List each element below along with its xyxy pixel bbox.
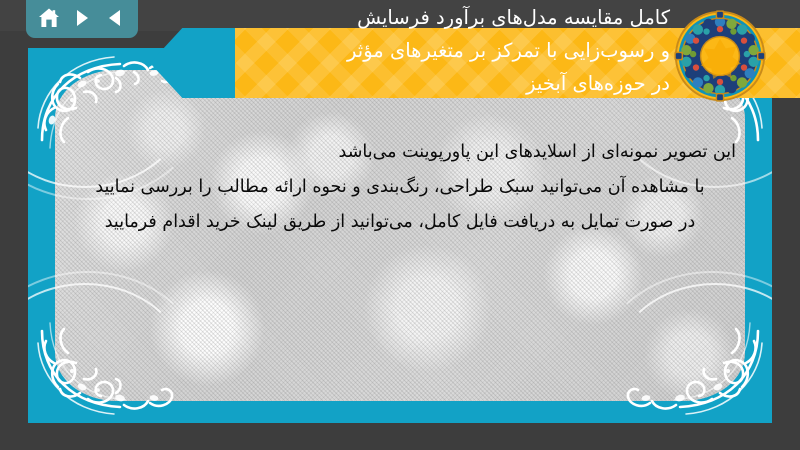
slide-navigation-bar[interactable]: [26, 0, 138, 38]
next-slide-button[interactable]: [69, 6, 95, 30]
panel-texture: [55, 70, 745, 401]
previous-slide-button[interactable]: [102, 6, 128, 30]
triangle-right-icon: [72, 8, 92, 28]
presentation-slide: این تصویر نمونه‌ای از اسلایدهای این پاور…: [0, 0, 800, 450]
decorative-frame: [28, 48, 772, 423]
slide-content-panel: [55, 70, 745, 401]
home-icon: [38, 7, 60, 29]
persian-medallion-ornament: [672, 8, 768, 104]
triangle-left-icon: [105, 8, 125, 28]
home-button[interactable]: [36, 6, 62, 30]
